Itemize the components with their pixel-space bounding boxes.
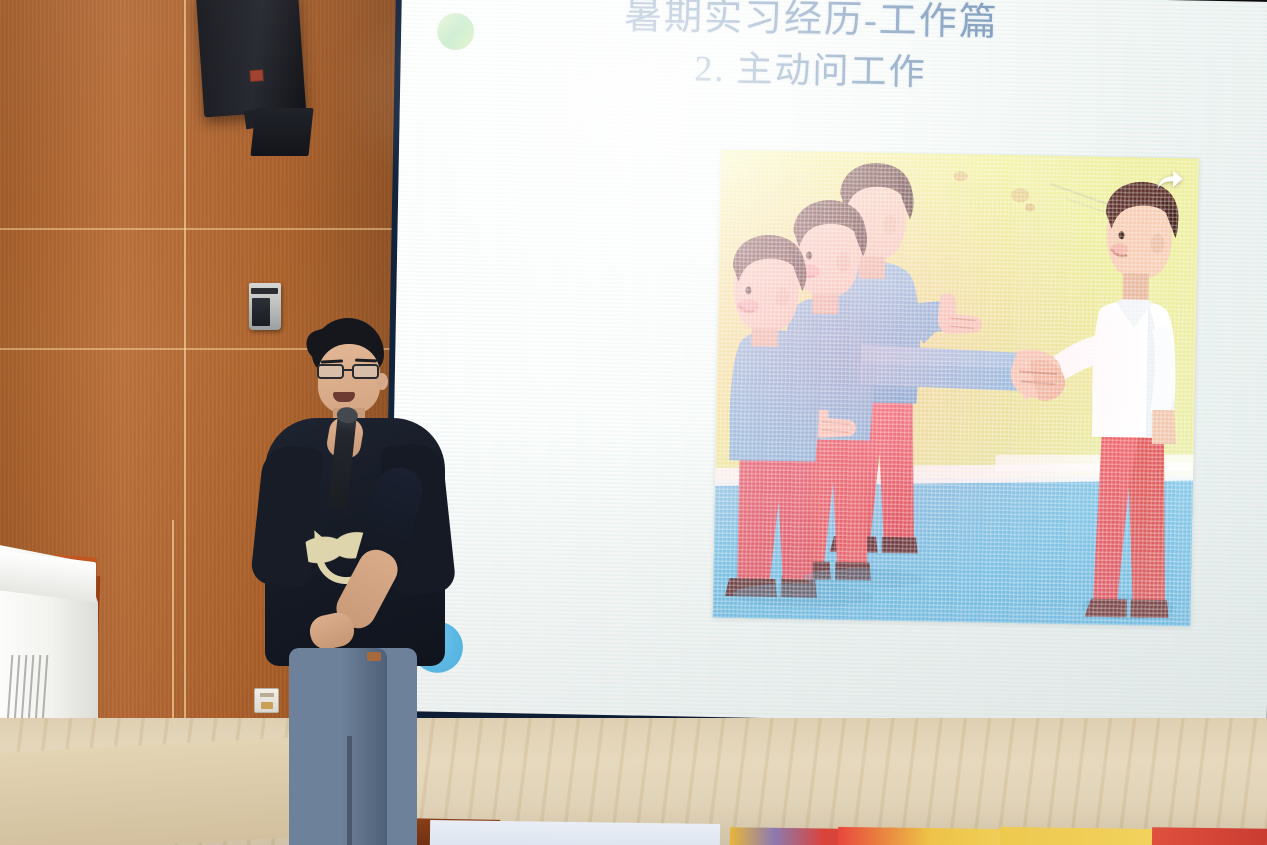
lens-left: [317, 364, 344, 379]
presentation-scene: 暑期实习经历-工作篇 2. 主动问工作: [0, 0, 1267, 845]
slide-illustration: [712, 150, 1198, 627]
foreground-poster-1: [730, 827, 840, 845]
foreground-poster-3: [1000, 827, 1155, 845]
handshake-cartoon: [712, 150, 1198, 627]
wall-seam-vertical-2: [172, 520, 174, 730]
eyeglasses-icon: [315, 364, 385, 380]
speaker-mount-bracket: [250, 108, 313, 156]
speaker-brand-logo: [249, 69, 264, 82]
share-arrow-icon[interactable]: [1154, 168, 1184, 195]
wall-seam-horizontal-1: [0, 228, 404, 230]
presenter-belt-tag: [367, 652, 381, 661]
presenter-mouth: [333, 392, 355, 402]
slide-title: 暑期实习经历-工作篇 2. 主动问工作: [460, 0, 1162, 102]
ceiling-speaker: [196, 0, 306, 117]
projection-screen: 暑期实习经历-工作篇 2. 主动问工作: [389, 0, 1267, 728]
wall-seam-vertical-1: [184, 0, 186, 722]
foreground-poster-4: [1152, 827, 1267, 845]
presenter: [255, 318, 455, 845]
sensor-strip: [251, 288, 278, 294]
foreground-poster-2: [838, 827, 1003, 845]
presenter-jeans-seam: [347, 736, 352, 845]
glasses-bridge: [344, 369, 354, 371]
lens-right: [352, 364, 379, 379]
foreground-paper: [430, 820, 720, 845]
